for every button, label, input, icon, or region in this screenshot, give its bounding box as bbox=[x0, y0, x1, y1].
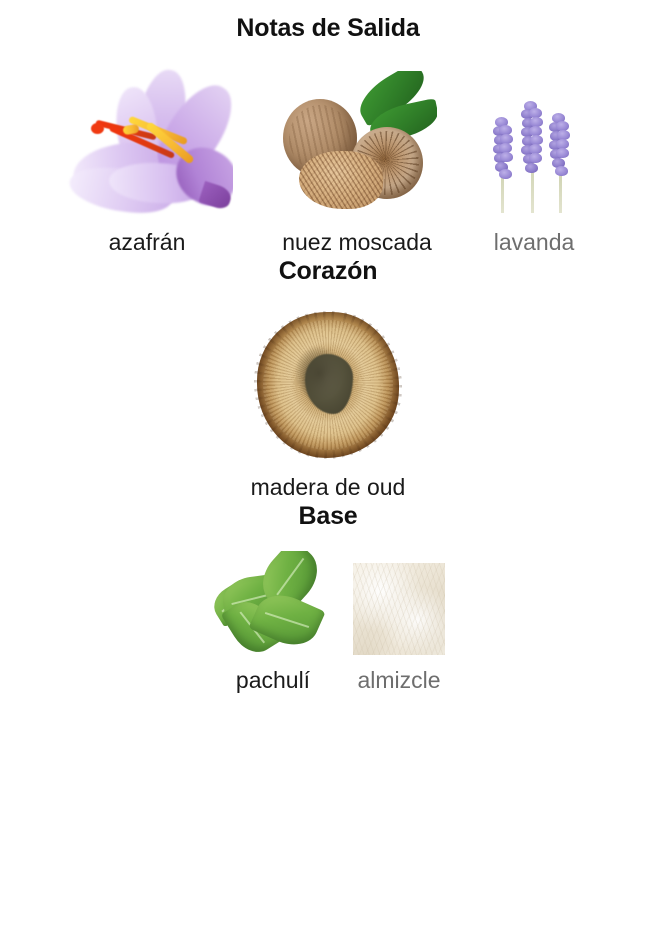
note-label-azafran: azafrán bbox=[109, 227, 186, 257]
saffron-flower-image bbox=[63, 65, 233, 217]
section-title-salida: Notas de Salida bbox=[0, 14, 656, 43]
section-title-corazon: Corazón bbox=[0, 257, 656, 286]
note-label-pachuli: pachulí bbox=[236, 665, 310, 695]
note-label-almizcle: almizcle bbox=[357, 665, 440, 695]
section-title-base: Base bbox=[0, 502, 656, 531]
note-label-madera-de-oud: madera de oud bbox=[251, 472, 406, 502]
fragrance-notes-page: Notas de Salida azafrán bbox=[0, 14, 656, 926]
note-item-almizcle[interactable]: almizcle bbox=[353, 563, 445, 695]
lavender-image bbox=[475, 91, 593, 217]
note-item-azafran[interactable]: azafrán bbox=[63, 65, 233, 257]
note-row-corazon: madera de oud bbox=[0, 310, 656, 502]
note-item-pachuli[interactable]: pachulí bbox=[211, 551, 335, 695]
patchouli-leaves-image bbox=[211, 551, 335, 655]
musk-image bbox=[353, 563, 445, 655]
note-item-nuez-moscada[interactable]: nuez moscada bbox=[277, 71, 437, 257]
note-row-base: pachulí almizcle bbox=[0, 551, 656, 695]
note-item-madera-de-oud[interactable]: madera de oud bbox=[251, 310, 406, 502]
note-label-nuez-moscada: nuez moscada bbox=[282, 227, 432, 257]
note-row-salida: azafrán nuez moscada bbox=[0, 65, 656, 257]
oud-wood-image bbox=[253, 310, 403, 460]
nutmeg-image bbox=[277, 71, 437, 217]
note-label-lavanda: lavanda bbox=[494, 227, 575, 257]
note-item-lavanda[interactable]: lavanda bbox=[475, 91, 593, 257]
